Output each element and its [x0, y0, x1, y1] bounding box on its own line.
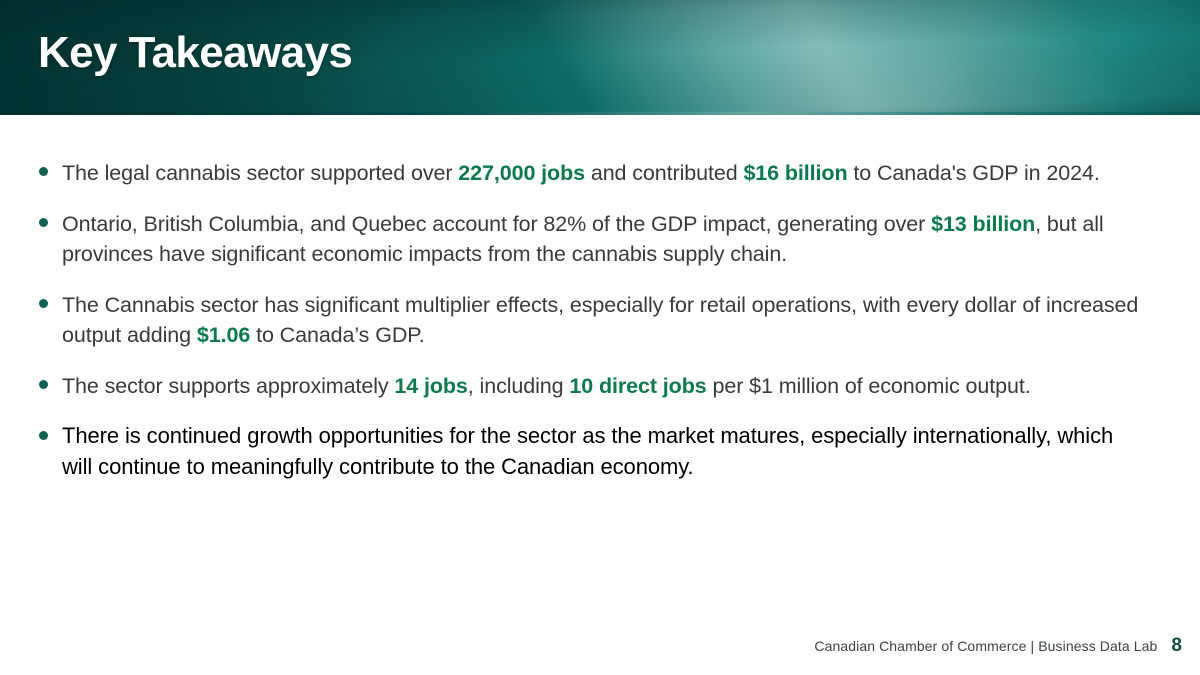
slide: Key Takeaways The legal cannabis sector …	[0, 0, 1200, 675]
highlighted-metric: 227,000 jobs	[458, 161, 585, 185]
page-number: 8	[1171, 635, 1182, 657]
bullet-text-segment: There is continued growth opportunities …	[62, 423, 1113, 479]
highlighted-metric: 10 direct jobs	[569, 374, 706, 398]
bullet-dot-icon	[39, 299, 48, 308]
bullet-text-segment: and contributed	[585, 161, 743, 185]
bullet-text: There is continued growth opportunities …	[62, 421, 1146, 482]
bullet-text-segment: to Canada’s GDP.	[250, 323, 424, 347]
bullet-item: The sector supports approximately 14 job…	[36, 371, 1146, 402]
page-title: Key Takeaways	[38, 25, 352, 81]
bullet-item: The legal cannabis sector supported over…	[36, 158, 1146, 189]
bullet-text-segment: to Canada's GDP in 2024.	[848, 161, 1100, 185]
bullet-item: The Cannabis sector has significant mult…	[36, 290, 1146, 351]
bullet-item: Ontario, British Columbia, and Quebec ac…	[36, 209, 1146, 270]
bullet-text: The Cannabis sector has significant mult…	[62, 290, 1146, 351]
bullet-text-segment: per $1 million of economic output.	[707, 374, 1031, 398]
bullet-dot-icon	[39, 431, 48, 440]
bullet-dot-icon	[39, 218, 48, 227]
bullet-text-segment: Ontario, British Columbia, and Quebec ac…	[62, 212, 931, 236]
bullet-dot-icon	[39, 380, 48, 389]
bullet-text: The legal cannabis sector supported over…	[62, 158, 1146, 189]
bullet-text-segment: , including	[468, 374, 570, 398]
bullet-text-segment: The sector supports approximately	[62, 374, 394, 398]
bullet-item: There is continued growth opportunities …	[36, 421, 1146, 482]
footer-attribution: Canadian Chamber of Commerce | Business …	[814, 638, 1157, 654]
highlighted-metric: 14 jobs	[394, 374, 467, 398]
highlighted-metric: $1.06	[197, 323, 250, 347]
bullet-text-segment: The legal cannabis sector supported over	[62, 161, 458, 185]
footer: Canadian Chamber of Commerce | Business …	[814, 635, 1182, 657]
header-bottom-edge	[0, 112, 1200, 115]
bullet-text: Ontario, British Columbia, and Quebec ac…	[62, 209, 1146, 270]
bullet-list: The legal cannabis sector supported over…	[36, 158, 1146, 482]
highlighted-metric: $13 billion	[931, 212, 1035, 236]
bullet-text: The sector supports approximately 14 job…	[62, 371, 1146, 402]
highlighted-metric: $16 billion	[743, 161, 847, 185]
bullet-dot-icon	[39, 167, 48, 176]
